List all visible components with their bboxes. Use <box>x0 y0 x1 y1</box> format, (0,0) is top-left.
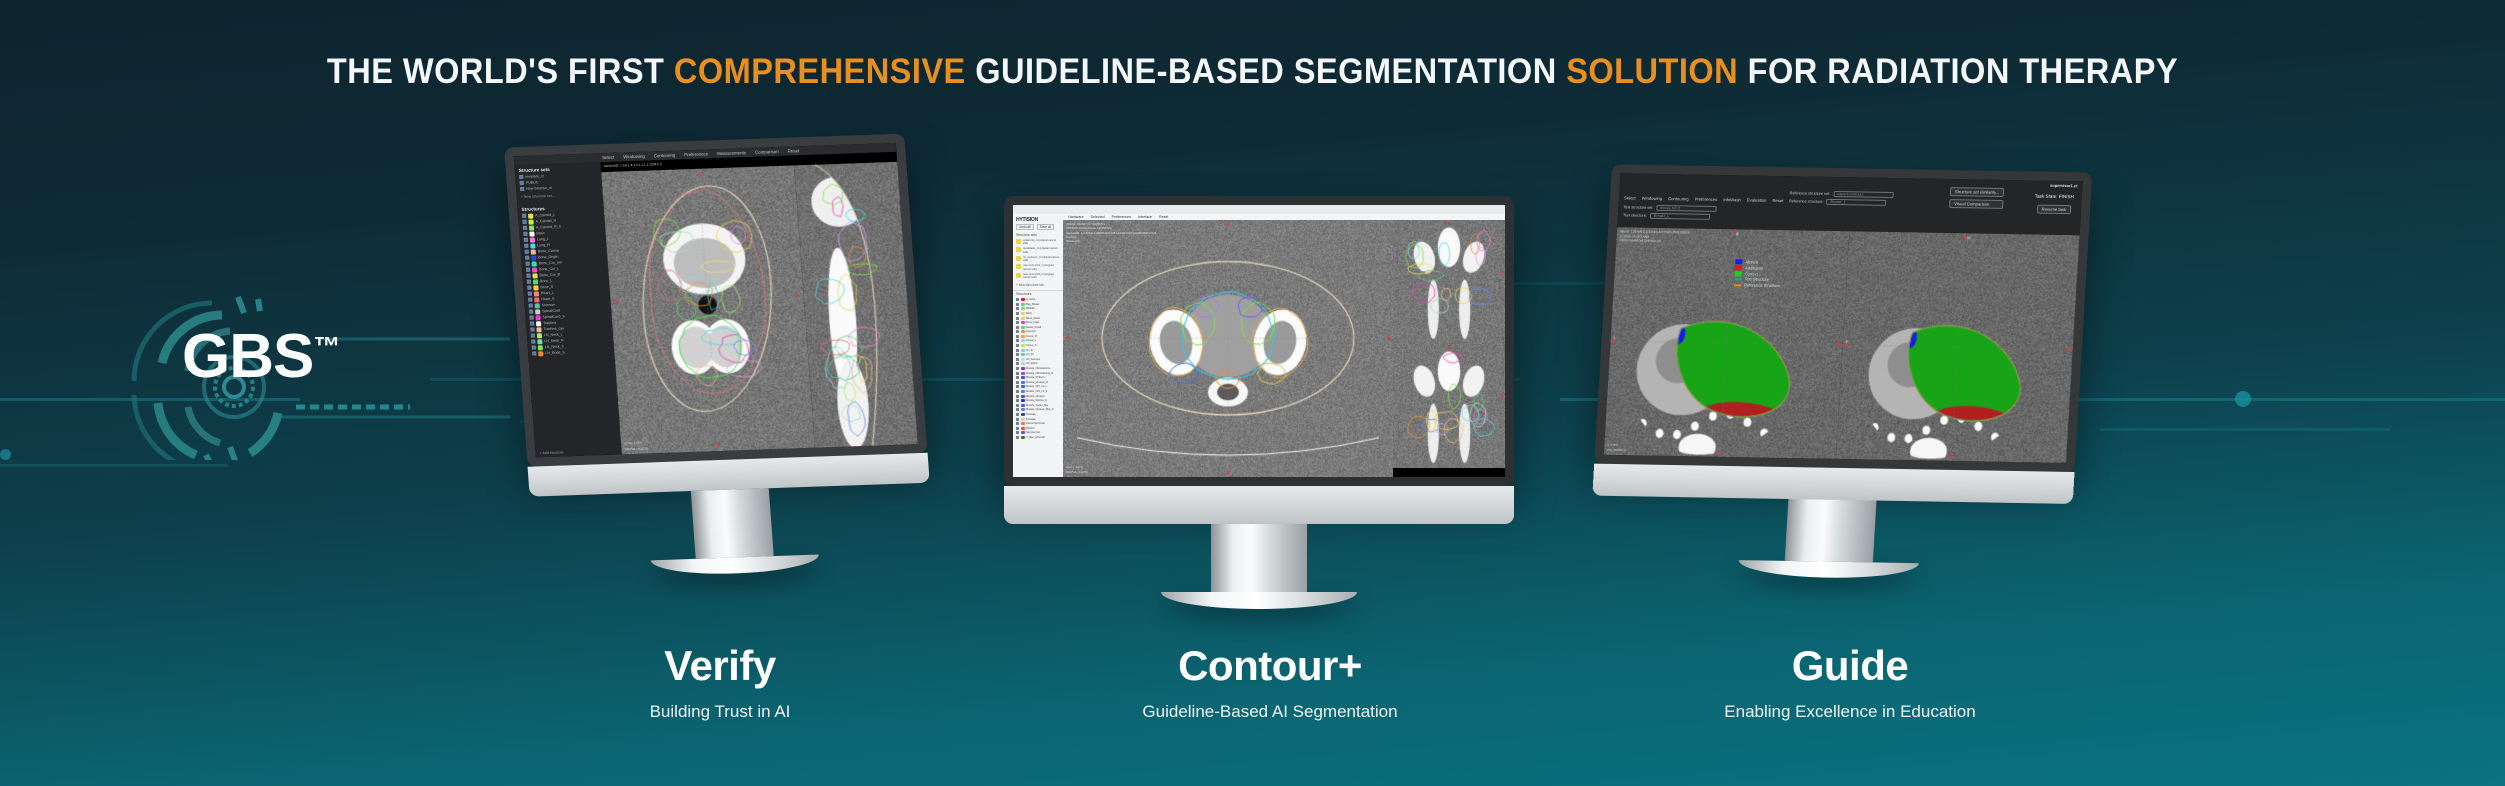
checkbox[interactable] <box>1016 385 1019 388</box>
action-button[interactable]: Structure set similarity... <box>1950 187 2005 197</box>
checkbox[interactable] <box>1016 376 1019 379</box>
guide-action-buttons[interactable]: Structure set similarity...Visual Compar… <box>1949 187 2005 209</box>
structure-label: Muscle_Gluteus <box>1026 395 1045 398</box>
structure-label: Femur_S <box>1026 344 1037 347</box>
color-swatch <box>530 243 535 248</box>
monitor-base <box>651 555 820 577</box>
legend-swatch <box>1734 279 1741 281</box>
structure-label: Trachea <box>543 321 556 325</box>
color-swatch <box>535 303 540 308</box>
structure-label: Seminal Ves <box>1026 431 1040 434</box>
color-swatch <box>1021 372 1025 375</box>
checkbox[interactable] <box>529 310 533 314</box>
structure-label: LN_Node_S <box>545 350 565 355</box>
structure-label: Heart_S <box>541 297 554 301</box>
sidebar-nav[interactable]: Undo allSave all <box>1013 224 1063 232</box>
checkbox[interactable] <box>529 316 533 320</box>
field-value[interactable]: Breast_L <box>1650 213 1710 220</box>
structure-label: SpinalCord_S <box>542 314 564 319</box>
structure-label: Lung_R <box>537 243 550 247</box>
structure-row[interactable]: V_Iliac_External <box>1013 435 1063 440</box>
monitor-neck <box>691 488 774 559</box>
caption-guide: Guide Enabling Excellence in Education <box>1620 645 2080 722</box>
toolbar-item[interactable]: Reset <box>1772 198 1783 203</box>
structure-label: A_Carotid_R <box>535 219 556 224</box>
checkbox[interactable] <box>1016 431 1019 434</box>
structure-label: Bone_Cor_L <box>539 267 559 272</box>
color-swatch <box>530 237 535 242</box>
structure-set-label: new contour01_ct (original cannot edit) <box>1023 264 1060 270</box>
checkbox[interactable] <box>1016 344 1019 347</box>
structure-label: Rectum <box>1026 427 1035 430</box>
guide-header: supervisor1.ct SelectWindowingContouring… <box>1617 173 2083 235</box>
checkbox[interactable] <box>1016 362 1019 365</box>
structure-label: SpinalCord <box>542 309 560 314</box>
checkbox[interactable] <box>530 327 534 331</box>
contour-viewport[interactable]: HardwareSelectedPreferencesInterfaceRese… <box>1063 214 1505 477</box>
color-swatch <box>535 315 540 320</box>
checkbox[interactable] <box>526 262 530 266</box>
structure-label: Rectal Sphincter <box>1026 422 1045 425</box>
structure-label: LN_Fil <box>1026 353 1034 356</box>
product-title: Verify <box>490 645 950 687</box>
checkbox[interactable] <box>1016 335 1019 338</box>
structure-label: Bone_S <box>540 285 553 289</box>
info-line: Windowing <box>1066 239 1156 243</box>
structure-label: Femur_L <box>1026 339 1036 342</box>
checkbox[interactable] <box>1016 358 1019 361</box>
color-swatch <box>1021 303 1025 306</box>
product-title: Guide <box>1620 645 2080 687</box>
structure-label: A_Aorta <box>1026 298 1035 301</box>
headline-part-3: FOR RADIATION THERAPY <box>1738 52 2178 91</box>
window-level-label: WW/WL: 400/50 <box>1066 470 1088 474</box>
checkbox[interactable] <box>1016 408 1019 411</box>
color-swatch <box>537 333 542 338</box>
structures-heading: Structures <box>1013 290 1063 297</box>
info-line: SeriesUID: 1.2.826.0.1.3680043.8.498.123… <box>1066 231 1156 235</box>
color-swatch <box>1021 408 1025 411</box>
monitor-neck <box>1211 524 1307 592</box>
checkbox[interactable] <box>526 268 530 272</box>
verify-app: SelectWindowingContouringPreferencesMeas… <box>514 143 918 458</box>
checkbox[interactable] <box>528 292 532 296</box>
monitor-screen: SelectWindowingContouringPreferencesMeas… <box>514 143 918 458</box>
structure-label: Bladder <box>1026 307 1035 310</box>
color-swatch <box>538 351 543 356</box>
toolbar-item[interactable]: InfoWash <box>1723 197 1741 202</box>
logo-trademark: ™ <box>313 331 340 361</box>
comparison-legend: AbsentAdditionalCorrectTest StructureRef… <box>1734 259 1782 289</box>
checkbox[interactable] <box>1016 436 1019 439</box>
color-swatch <box>534 297 539 302</box>
checkbox[interactable] <box>525 256 529 260</box>
checkbox[interactable] <box>1016 404 1019 407</box>
checkbox[interactable] <box>522 214 526 218</box>
field-value[interactable]: expert-contours <box>1833 191 1893 198</box>
structure-label: LN_Neck_R <box>544 338 564 343</box>
caption-contour-plus: Contour+ Guideline-Based AI Segmentation <box>1040 645 1500 722</box>
structure-set-row[interactable]: epidermis_ct (original cannot edit) <box>1013 238 1063 246</box>
checkbox[interactable] <box>1016 298 1019 301</box>
color-swatch <box>537 339 542 344</box>
checkbox[interactable] <box>522 220 526 224</box>
ct-coronal-view[interactable] <box>1393 220 1505 344</box>
nav-button[interactable]: Save all <box>1037 224 1054 230</box>
toolbar-item[interactable]: Contouring <box>654 153 676 159</box>
ct-axial-view[interactable] <box>1063 220 1393 477</box>
monitor-base <box>1161 592 1357 609</box>
structure-set-row[interactable]: rtv_contours_ct (original cannot edit) <box>1013 255 1063 263</box>
checkbox[interactable] <box>532 351 536 355</box>
color-swatch <box>1016 273 1021 278</box>
structure-label: Bone_Cor_R <box>539 273 560 278</box>
structure-label: LN_Femoral <box>1026 358 1040 361</box>
checkbox[interactable] <box>1016 339 1019 342</box>
structure-label: Muscle_Rectus_S <box>1026 399 1047 402</box>
circuit-node <box>0 449 11 460</box>
color-swatch <box>1021 307 1025 310</box>
color-swatch <box>1021 326 1025 329</box>
toolbar-item[interactable]: Preferences <box>684 151 708 157</box>
checkbox[interactable] <box>1016 317 1019 320</box>
zoom-label: Zoom: 128% <box>624 441 642 446</box>
structure-set-label: PUBLIC <box>526 180 539 184</box>
checkbox[interactable] <box>1016 349 1019 352</box>
checkbox[interactable] <box>525 250 529 254</box>
checkbox[interactable] <box>530 322 534 326</box>
contour-app: HYTISION Undo allSave all Structure sets… <box>1013 205 1505 477</box>
headline-part-2: GUIDELINE-BASED SEGMENTATION <box>966 52 1566 91</box>
toolbar-item[interactable]: Windowing <box>623 154 645 160</box>
toolbar-item[interactable]: Measurements <box>717 150 746 156</box>
checkbox[interactable] <box>529 304 533 308</box>
legend-swatch <box>1734 284 1741 286</box>
action-button[interactable]: Visual Comparison <box>1949 199 2004 209</box>
toolbar-item[interactable]: Select <box>602 155 615 160</box>
window-level-label: WW/WL: 400/50 <box>624 447 648 452</box>
color-swatch <box>535 309 540 314</box>
guide-toolbar[interactable]: SelectWindowingContouringPreferencesInfo… <box>1624 195 1784 203</box>
color-swatch <box>1016 247 1021 252</box>
color-swatch <box>1016 256 1021 261</box>
toolbar-item[interactable]: Evaluation <box>1747 198 1767 203</box>
structure-label: Trachea_cav <box>543 326 564 331</box>
monitor-base <box>1738 560 1919 579</box>
color-swatch <box>1021 317 1025 320</box>
color-swatch <box>1021 385 1025 388</box>
checkbox[interactable] <box>532 345 536 349</box>
structure-label: Brain <box>536 231 545 235</box>
structure-set-list[interactable]: epidermis_ct (original cannot edit)metas… <box>1013 238 1063 280</box>
viewport-info-text: dateID: 2.16.840.1.114362.1.11775105.205… <box>1619 229 1689 244</box>
headline-highlight-1: COMPREHENSIVE <box>674 52 966 91</box>
structure-label: Muscle_Gluteus_Maj_R <box>1026 408 1054 411</box>
task-state-label: Task State: FINISH <box>2035 194 2074 200</box>
toolbar-item[interactable]: Windowing <box>1642 196 1663 201</box>
series-uid-label: SeriesUID: 1.3.6.1.4.1.2.1.1.1.1.1234.5.… <box>604 162 662 168</box>
color-swatch <box>1021 431 1025 434</box>
field-label: Test structure set: <box>1623 205 1653 210</box>
checkbox[interactable] <box>1016 422 1019 425</box>
structure-set-label: template_ct <box>525 174 544 179</box>
checkbox[interactable] <box>526 274 530 278</box>
color-swatch <box>1016 239 1021 244</box>
checkbox[interactable] <box>1016 321 1019 324</box>
checkbox[interactable] <box>519 175 523 179</box>
checkbox[interactable] <box>1016 353 1019 356</box>
color-swatch <box>1021 427 1025 430</box>
checkbox[interactable] <box>520 187 524 191</box>
guide-app: supervisor1.ct SelectWindowingContouring… <box>1604 173 2083 463</box>
guide-field-group[interactable]: Test structure set:tissue-ref-ctTest str… <box>1623 204 1717 220</box>
monitor-bezel: SelectWindowingContouringPreferencesMeas… <box>504 134 927 467</box>
legend-swatch <box>1735 260 1742 265</box>
monitor-neck <box>1785 499 1877 562</box>
color-swatch <box>533 279 538 284</box>
circuit-node <box>2235 391 2251 407</box>
monitor-chin <box>1004 486 1514 524</box>
monitor-contour-plus: HYTISION Undo allSave all Structure sets… <box>1004 196 1514 609</box>
verify-viewport[interactable]: SeriesUID: 1.3.6.1.4.1.2.1.1.1.1.1234.5.… <box>600 152 917 455</box>
structure-label: Muscle_Sartor_Maj <box>1026 404 1048 407</box>
toolbar-item[interactable]: Reset <box>788 148 800 153</box>
checkbox[interactable] <box>1016 303 1019 306</box>
color-swatch <box>1021 339 1025 342</box>
structure-label: Muscle_Obt_Int_R <box>1026 390 1047 393</box>
product-title: Contour+ <box>1040 645 1500 687</box>
structure-set-label: rtv_contours_ct (original cannot edit) <box>1023 256 1060 262</box>
window-level-label: WC: 400/50 ct <box>1607 448 1626 452</box>
structure-label: A_Carotid_L <box>535 213 555 218</box>
color-swatch <box>531 249 536 254</box>
caption-verify: Verify Building Trust in AI <box>490 645 950 722</box>
legend-swatch <box>1735 265 1742 270</box>
checkbox[interactable] <box>523 232 527 236</box>
viewport-info-text: IMAGE: 20250713 / 20250713PATIENT: Pelvi… <box>1066 222 1156 244</box>
checkbox[interactable] <box>1016 367 1019 370</box>
field-row[interactable]: Test structure:Breast_L <box>1623 212 1716 220</box>
structure-label: Bone_Carina <box>538 249 559 254</box>
nav-button[interactable]: Undo all <box>1016 224 1034 230</box>
toolbar-item[interactable]: Comparison <box>755 149 779 155</box>
color-swatch <box>528 219 533 224</box>
checkbox[interactable] <box>531 339 535 343</box>
toolbar-item[interactable]: Reset <box>1159 215 1168 219</box>
color-swatch <box>1021 321 1025 324</box>
structure-set-label: epidermis_ct (original cannot edit) <box>1023 239 1060 245</box>
structure-set-label: new contour02_ct (original cannot edit) <box>1023 273 1060 279</box>
headline-highlight-2: SOLUTION <box>1566 52 1738 91</box>
logo-wordmark: GBS™ <box>182 321 340 392</box>
toolbar-item[interactable]: Preferences <box>1112 215 1131 219</box>
color-swatch <box>1021 395 1025 398</box>
checkbox[interactable] <box>1016 395 1019 398</box>
checkbox[interactable] <box>1016 418 1019 421</box>
structure-label: Muscle_Piriform <box>1026 376 1045 379</box>
checkbox[interactable] <box>1016 427 1019 430</box>
color-swatch <box>1021 413 1025 416</box>
structure-label: Bowel_Small <box>1026 326 1041 329</box>
structure-label: Muscle_Obturatorius_R <box>1026 372 1053 375</box>
structure-list[interactable]: A_AortaBag_BowelBladderBodyBone_PelvisBo… <box>1013 297 1063 477</box>
color-swatch <box>1021 422 1025 425</box>
field-value[interactable]: Breast_L <box>1826 199 1886 206</box>
structure-label: Sternum <box>542 303 556 307</box>
color-swatch <box>1021 298 1025 301</box>
checkbox[interactable] <box>1016 399 1019 402</box>
checkbox[interactable] <box>1016 381 1019 384</box>
ct-sagittal-comparison-view[interactable] <box>1836 231 2080 463</box>
field-row[interactable]: Reference structure:Breast_L <box>1789 198 1893 206</box>
field-label: Reference structure set: <box>1789 191 1830 196</box>
structure-set-row[interactable]: new contour01_ct (original cannot edit) <box>1013 263 1063 271</box>
monitor-screen: supervisor1.ct SelectWindowingContouring… <box>1604 173 2083 463</box>
product-subtitle: Guideline-Based AI Segmentation <box>1040 702 1500 722</box>
add-structure-set-button[interactable]: + New structure set... <box>516 189 603 202</box>
color-swatch <box>538 345 543 350</box>
field-row[interactable]: Test structure set:tissue-ref-ct <box>1623 204 1716 212</box>
toolbar-item[interactable]: Contouring <box>1668 196 1689 201</box>
checkbox[interactable] <box>1016 312 1019 315</box>
ct-sagittal-view[interactable] <box>794 162 918 448</box>
checkbox[interactable] <box>1016 390 1019 393</box>
structure-label: LN_Ili <box>1026 349 1033 352</box>
structure-label: Heart_L <box>541 291 554 295</box>
color-swatch <box>1021 390 1025 393</box>
checkbox[interactable] <box>1016 372 1019 375</box>
field-row[interactable]: Reference structure set:expert-contours <box>1789 190 1893 198</box>
color-swatch <box>1021 330 1025 333</box>
structure-set-row[interactable]: metastasis_ct (original cannot edit) <box>1013 246 1063 254</box>
monitor-guide: supervisor1.ct SelectWindowingContouring… <box>1588 164 2093 582</box>
color-swatch <box>529 225 534 230</box>
color-swatch <box>1021 404 1025 407</box>
page-title: THE WORLD'S FIRST COMPREHENSIVE GUIDELIN… <box>88 52 2418 92</box>
ct-axial-comparison-view[interactable] <box>1604 227 1850 459</box>
structure-set-label: metastasis_ct (original cannot edit) <box>1023 247 1060 253</box>
checkbox[interactable] <box>523 226 527 230</box>
color-swatch <box>534 291 539 296</box>
logo-text: GBS <box>182 322 313 391</box>
toolbar-item[interactable]: Select <box>1624 195 1636 200</box>
legend-row: Reference Structure <box>1734 282 1780 289</box>
color-swatch <box>1021 358 1025 361</box>
headline-part-1: THE WORLD'S FIRST <box>327 52 674 91</box>
monitor-bezel: HYTISION Undo allSave all Structure sets… <box>1004 196 1514 486</box>
field-value[interactable]: tissue-ref-ct <box>1656 205 1716 212</box>
color-swatch <box>1021 362 1025 365</box>
color-swatch <box>529 231 534 236</box>
structure-label: V_Iliac_External <box>1026 436 1045 439</box>
color-swatch <box>531 255 536 260</box>
checkbox[interactable] <box>527 286 531 290</box>
toolbar-item[interactable]: Selected <box>1091 215 1105 219</box>
legend-label: Reference Structure <box>1744 283 1780 289</box>
circuit-line <box>2100 428 2390 431</box>
gbs-logo: GBS™ <box>110 285 510 460</box>
color-swatch <box>1021 353 1025 356</box>
structure-label: Prostate <box>1026 418 1036 421</box>
monitor-screen: HYTISION Undo allSave all Structure sets… <box>1013 205 1505 477</box>
checkbox[interactable] <box>1016 330 1019 333</box>
brand-label: HYTISION <box>1013 214 1063 224</box>
structure-label: Lung_L <box>537 237 549 241</box>
color-swatch <box>1021 376 1025 379</box>
structure-label: Bag_Bowel <box>1026 303 1039 306</box>
user-label: supervisor1.ct <box>2050 183 2078 188</box>
checkbox[interactable] <box>1016 326 1019 329</box>
checkbox[interactable] <box>527 280 531 284</box>
add-structure-set-button[interactable]: + New structure set... <box>1013 280 1063 290</box>
checkbox[interactable] <box>531 333 535 337</box>
structure-label: Body <box>1026 312 1032 315</box>
structure-label: Muscle_Obturatorius <box>1026 367 1050 370</box>
toolbar-item[interactable]: Hardware <box>1068 215 1084 219</box>
color-swatch <box>536 327 541 332</box>
color-swatch <box>1021 344 1025 347</box>
color-swatch <box>1021 399 1025 402</box>
field-label: Test structure: <box>1623 213 1647 217</box>
structure-label: Prostate <box>1026 413 1036 416</box>
ct-axial-view[interactable] <box>601 165 815 454</box>
structure-label: Bone_Pelvis <box>1026 317 1040 320</box>
contour-sidebar[interactable]: HYTISION Undo allSave all Structure sets… <box>1013 214 1063 477</box>
color-swatch <box>528 213 533 218</box>
structure-label: Bone_Legs <box>1026 321 1039 324</box>
product-subtitle: Enabling Excellence in Education <box>1620 702 2080 722</box>
app-titlebar <box>1013 205 1505 214</box>
color-swatch <box>532 273 537 278</box>
color-swatch <box>533 285 538 290</box>
monitor-bezel: supervisor1.ct SelectWindowingContouring… <box>1594 164 2092 472</box>
structure-label: Femoral <box>1026 330 1036 333</box>
checkbox[interactable] <box>524 238 528 242</box>
structure-label: Muscle_Obt_Int_L <box>1026 385 1047 388</box>
color-swatch <box>1021 312 1025 315</box>
structure-label: Muscle_Gluteus_R <box>1026 381 1048 384</box>
legend-swatch <box>1735 271 1742 276</box>
guide-viewport[interactable]: dateID: 2.16.840.1.114362.1.11775105.205… <box>1604 227 2080 463</box>
color-swatch <box>536 321 541 326</box>
add-structure-button[interactable]: + Add structure <box>535 446 622 457</box>
ct-sagittal-view[interactable] <box>1393 344 1505 468</box>
structure-label: Femur_R <box>1026 335 1037 338</box>
structure-set-row[interactable]: new contour02_ct (original cannot edit) <box>1013 272 1063 280</box>
checkbox[interactable] <box>520 181 524 185</box>
checkbox[interactable] <box>528 298 532 302</box>
color-swatch <box>531 261 536 266</box>
color-swatch <box>1021 335 1025 338</box>
structure-label: LN_Neck_L <box>544 333 563 338</box>
toolbar-item[interactable]: Preferences <box>1695 197 1718 202</box>
structure-label: LN_Pelvic <box>1026 362 1038 365</box>
structure-label: Bone_Cor_Inn <box>539 261 562 266</box>
color-swatch <box>532 267 537 272</box>
color-swatch <box>1021 381 1025 384</box>
guide-reference-field-group[interactable]: Reference structure set:expert-contoursR… <box>1789 190 1893 206</box>
toolbar-item[interactable]: Interface <box>1138 215 1152 219</box>
checkbox[interactable] <box>524 244 528 248</box>
resume-task-button[interactable]: Resume task <box>2036 205 2071 215</box>
zoom-label: Zoom: 100% <box>1066 465 1083 469</box>
color-swatch <box>1021 418 1025 421</box>
structure-label: LN_Neck_S <box>545 344 564 349</box>
checkbox[interactable] <box>1016 413 1019 416</box>
field-label: Reference structure: <box>1789 199 1824 204</box>
checkbox[interactable] <box>1016 307 1019 310</box>
monitor-verify: SelectWindowingContouringPreferencesMeas… <box>504 134 936 581</box>
